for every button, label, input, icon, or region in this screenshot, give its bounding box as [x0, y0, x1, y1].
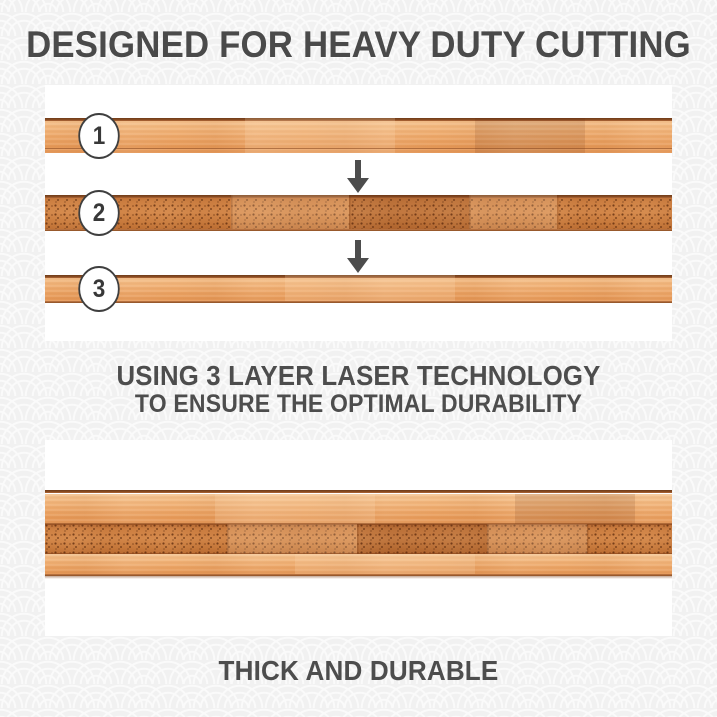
caption-technology-line2: TO ENSURE THE OPTIMAL DURABILITY — [29, 392, 689, 417]
board-core-seam-a — [227, 524, 229, 554]
layer-badge-3: 3 — [78, 266, 119, 312]
arrow-down-icon — [345, 160, 371, 194]
board-bottom-tone-a — [295, 554, 475, 576]
page-title: DESIGNED FOR HEAVY DUTY CUTTING — [22, 26, 696, 63]
board-core-tone-c — [487, 524, 587, 554]
layer-badge-1-label: 1 — [93, 124, 106, 149]
board-core-seam-d — [587, 524, 589, 554]
board-top-tone-b — [515, 494, 635, 524]
board-bottom-face-layer — [45, 554, 672, 576]
strip-1-hairline — [45, 148, 672, 149]
bamboo-strip-layer-3 — [45, 275, 672, 303]
layer-badge-3-label: 3 — [93, 277, 106, 302]
board-core-layer — [45, 524, 672, 554]
layer-badge-2: 2 — [78, 190, 119, 236]
board-top-tone-a — [215, 494, 375, 524]
bamboo-strip-layer-2 — [45, 195, 672, 231]
strip-2-bottom-edge — [45, 229, 672, 231]
board-core-seam-b — [357, 524, 359, 554]
strip-2-tone-panel-b — [349, 195, 469, 231]
caption-thick-and-durable: THICK AND DURABLE — [25, 657, 692, 685]
layer-badge-2-label: 2 — [93, 201, 106, 226]
strip-2-seam-b — [349, 195, 351, 231]
laminated-bamboo-board — [45, 490, 672, 578]
strip-2-tone-panel-a — [231, 195, 349, 231]
strip-2-seam-a — [231, 195, 233, 231]
board-core-tone-a — [227, 524, 357, 554]
strip-3-tone-panel-a — [285, 275, 455, 303]
strip-2-tone-panel-c — [469, 195, 557, 231]
bamboo-strip-layer-1 — [45, 118, 672, 153]
strip-3-bottom-edge — [45, 301, 672, 303]
infographic-canvas: DESIGNED FOR HEAVY DUTY CUTTING 1 2 3 — [0, 0, 717, 717]
strip-2-seam-c — [469, 195, 471, 231]
board-core-seam-c — [487, 524, 489, 554]
board-top-edge — [45, 490, 672, 493]
caption-technology-line1: USING 3 LAYER LASER TECHNOLOGY — [29, 362, 689, 390]
board-drop-shadow — [45, 576, 672, 579]
layer-badge-1: 1 — [78, 113, 119, 159]
strip-2-seam-d — [557, 195, 559, 231]
board-core-tone-b — [357, 524, 487, 554]
board-top-face-layer — [45, 494, 672, 524]
arrow-down-icon — [345, 240, 371, 274]
